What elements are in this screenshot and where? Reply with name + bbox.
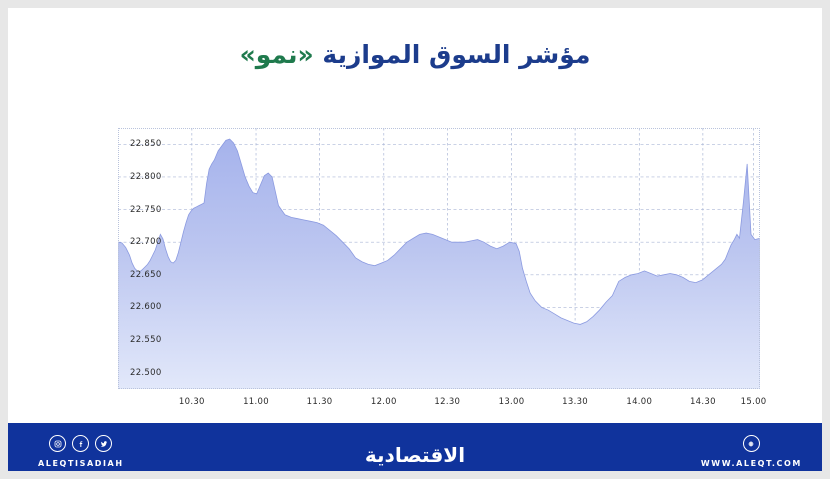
x-axis-tick: 15.00 [741, 397, 767, 407]
chart-title-main: مؤشر السوق الموازية [322, 40, 590, 69]
x-axis-tick: 11.00 [243, 397, 269, 407]
footer-right-caption: WWW.ALEQT.COM [701, 459, 802, 468]
page-card: مؤشر السوق الموازية «نمو» 22.50022.55022… [8, 8, 822, 471]
chart-title: مؤشر السوق الموازية «نمو» [8, 38, 822, 72]
x-axis-tick: 13.30 [562, 397, 588, 407]
x-axis-tick: 11.30 [307, 397, 333, 407]
footer-website-block: WWW.ALEQT.COM [701, 435, 802, 468]
site-footer: ALEQTISADIAH الاقتصادية WWW.ALEQT.COM [8, 423, 822, 471]
page-title: مؤشر السوق الموازية «نمو» [8, 38, 822, 72]
chart-container: 22.50022.55022.60022.65022.70022.75022.8… [110, 120, 760, 405]
x-axis-tick: 12.00 [371, 397, 397, 407]
chart-plot-area: 22.50022.55022.60022.65022.70022.75022.8… [118, 128, 760, 389]
plot-border [118, 128, 760, 389]
aleqt-globe-icon[interactable] [743, 435, 760, 452]
aleqtisadiah-logo: الاقتصادية [365, 445, 465, 465]
x-axis-labels: 10.3011.0011.3012.0012.3013.0013.3014.00… [118, 393, 760, 409]
chart-title-accent: «نمو» [240, 40, 314, 69]
x-axis-tick: 14.00 [626, 397, 652, 407]
x-axis-tick: 14.30 [690, 397, 716, 407]
x-axis-tick: 12.30 [434, 397, 460, 407]
x-axis-tick: 13.00 [499, 397, 525, 407]
x-axis-tick: 10.30 [179, 397, 205, 407]
